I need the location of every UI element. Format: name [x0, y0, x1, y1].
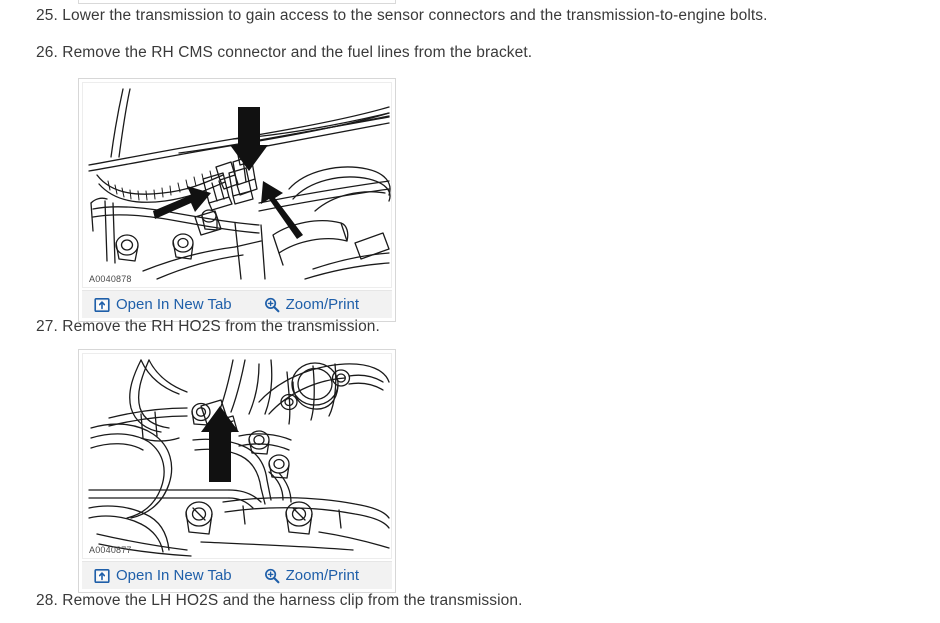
- open-in-new-tab-link-2[interactable]: Open In New Tab: [94, 568, 232, 584]
- figure-A0040877: A0040877 Open In New Tab: [78, 349, 396, 593]
- figure-A0040878-image: A0040878: [82, 82, 392, 288]
- magnifier-plus-icon: [264, 568, 280, 584]
- magnifier-plus-icon: [264, 297, 280, 313]
- step-25: 25. Lower the transmission to gain acces…: [36, 6, 768, 26]
- zoom-print-label-2: Zoom/Print: [286, 568, 359, 583]
- step-28-text: Remove the LH HO2S and the harness clip …: [62, 592, 522, 609]
- figure-A0040878: A0040878 Open In New Tab: [78, 78, 396, 322]
- open-in-new-tab-label-2: Open In New Tab: [116, 568, 232, 583]
- previous-figure-partial-frame: [78, 0, 396, 4]
- step-27: 27. Remove the RH HO2S from the transmis…: [36, 317, 380, 337]
- step-28-number: 28.: [36, 592, 58, 609]
- open-in-new-tab-link-1[interactable]: Open In New Tab: [94, 297, 232, 313]
- figure-A0040877-id-label: A0040877: [89, 545, 132, 555]
- open-in-new-tab-icon: [94, 297, 110, 313]
- step-25-text: Lower the transmission to gain access to…: [62, 7, 767, 24]
- step-28: 28. Remove the LH HO2S and the harness c…: [36, 591, 523, 611]
- transmission-ho2s-drawing: [83, 354, 392, 558]
- zoom-print-link-2[interactable]: Zoom/Print: [264, 568, 359, 584]
- step-27-number: 27.: [36, 318, 58, 335]
- step-26-text: Remove the RH CMS connector and the fuel…: [62, 44, 532, 61]
- figure-A0040877-toolbar: Open In New Tab Zoom/Print: [82, 561, 392, 589]
- step-25-number: 25.: [36, 7, 58, 24]
- figure-A0040877-image: A0040877: [82, 353, 392, 559]
- step-26: 26. Remove the RH CMS connector and the …: [36, 43, 532, 63]
- open-in-new-tab-icon: [94, 568, 110, 584]
- figure-A0040878-id-label: A0040878: [89, 274, 132, 284]
- step-26-number: 26.: [36, 44, 58, 61]
- open-in-new-tab-label-1: Open In New Tab: [116, 297, 232, 312]
- zoom-print-link-1[interactable]: Zoom/Print: [264, 297, 359, 313]
- figure-A0040878-toolbar: Open In New Tab Zoom/Print: [82, 290, 392, 318]
- zoom-print-label-1: Zoom/Print: [286, 297, 359, 312]
- engine-bay-cms-connector-drawing: [83, 83, 392, 287]
- step-27-text: Remove the RH HO2S from the transmission…: [62, 318, 380, 335]
